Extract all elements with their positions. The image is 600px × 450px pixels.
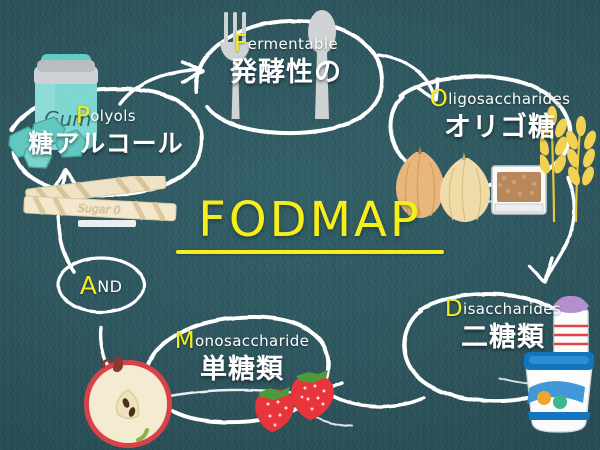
node-polyols-initial: P [76, 103, 90, 129]
node-disaccharides: Disaccharides 二糖類 [420, 298, 586, 351]
node-oligosaccharides-initial: O [430, 86, 449, 112]
node-and-en: AND [80, 271, 123, 300]
node-fermentable-en-rest: ermentable [248, 35, 338, 53]
node-fermentable-jp: 発酵性の [206, 59, 366, 86]
node-disaccharides-initial: D [445, 296, 463, 322]
node-monosaccharide-en: Monosaccharide [158, 330, 326, 353]
node-fermentable-initial: F [234, 31, 248, 57]
node-monosaccharide-en-rest: onosaccharide [195, 332, 309, 350]
node-and-en-rest: ND [97, 277, 122, 296]
natto-container [492, 166, 546, 214]
node-disaccharides-en-rest: isaccharides [463, 300, 561, 318]
fodmap-underline [176, 250, 444, 254]
node-polyols-en: Polyols [6, 105, 206, 128]
node-monosaccharide-initial: M [175, 328, 195, 354]
onion-right [440, 152, 490, 222]
sugar-stick-label: Sugar 0 [78, 202, 121, 217]
node-oligosaccharides-en-rest: ligosaccharides [448, 90, 570, 108]
node-and-initial: A [80, 271, 98, 300]
node-oligosaccharides: Oligosaccharides オリゴ糖 [404, 88, 596, 141]
node-monosaccharide: Monosaccharide 単糖類 [158, 330, 326, 383]
fodmap-title-block: FODMAP [176, 196, 444, 254]
node-polyols-jp: 糖アルコール [6, 131, 206, 156]
node-disaccharides-jp: 二糖類 [420, 324, 586, 351]
yogurt-tub [524, 352, 594, 432]
sugar-sticks-illustration: Sugar 0 [22, 176, 182, 234]
fodmap-infographic: Gum Sugar 0 [0, 0, 600, 450]
node-polyols: Polyols 糖アルコール [6, 105, 206, 156]
node-fermentable: Fermentable 発酵性の [206, 33, 366, 86]
arrow-polyols-to-fermentable [120, 70, 202, 104]
node-polyols-en-rest: olyols [90, 107, 136, 125]
node-monosaccharide-jp: 単糖類 [158, 356, 326, 383]
fodmap-title: FODMAP [176, 196, 444, 244]
node-fermentable-en: Fermentable [206, 33, 366, 56]
node-oligosaccharides-en: Oligosaccharides [404, 88, 596, 111]
node-oligosaccharides-jp: オリゴ糖 [404, 114, 596, 141]
sugar-stick-front: Sugar 0 [24, 196, 177, 221]
node-disaccharides-en: Disaccharides [420, 298, 586, 321]
strawberry-front [255, 387, 294, 432]
node-and: AND [58, 262, 144, 308]
